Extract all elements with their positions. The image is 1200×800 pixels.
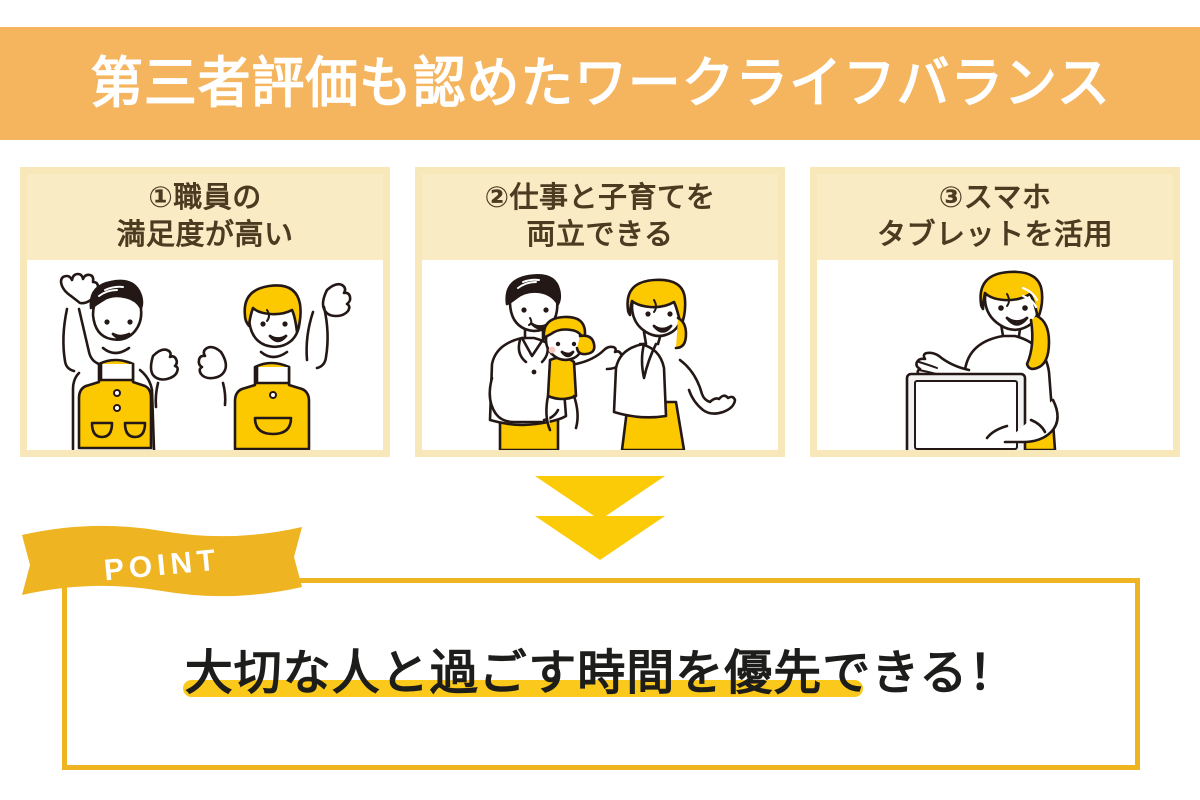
feature-card-1: ①職員の 満足度が高い (20, 167, 390, 457)
tablet-woman-illustration (817, 260, 1173, 450)
feature-card-2-title-line2: 両立できる (527, 217, 674, 254)
family-illustration (422, 260, 778, 450)
feature-card-3-title-line2: タブレットを活用 (877, 217, 1113, 254)
feature-card-3-header: ③スマホ タブレットを活用 (817, 174, 1173, 260)
point-message-content: 大切な人と過ごす時間を優先できる！ (62, 578, 1140, 770)
double-chevron-down-icon (531, 472, 669, 564)
page-title: 第三者評価も認めたワークライフバランス (90, 56, 1110, 111)
point-message-text: 大切な人と過ごす時間を優先できる！ (185, 645, 1018, 703)
header-banner: 第三者評価も認めたワークライフバランス (0, 27, 1200, 140)
feature-card-2-title-line1: ②仕事と子育てを (485, 180, 716, 217)
feature-card-1-header: ①職員の 満足度が高い (27, 174, 383, 260)
point-ribbon: POINT (22, 525, 302, 603)
feature-card-3: ③スマホ タブレットを活用 (810, 167, 1180, 457)
feature-card-2-header: ②仕事と子育てを 両立できる (422, 174, 778, 260)
feature-card-1-title-line1: ①職員の (148, 180, 262, 217)
feature-card-3-title-line1: ③スマホ (939, 180, 1052, 217)
feature-cards-row: ①職員の 満足度が高い (20, 167, 1180, 457)
feature-card-1-title-line2: 満足度が高い (116, 217, 293, 254)
feature-card-2: ②仕事と子育てを 両立できる (415, 167, 785, 457)
point-message-text-holder: 大切な人と過ごす時間を優先できる！ (181, 645, 1022, 703)
cheering-staff-illustration (27, 260, 383, 450)
